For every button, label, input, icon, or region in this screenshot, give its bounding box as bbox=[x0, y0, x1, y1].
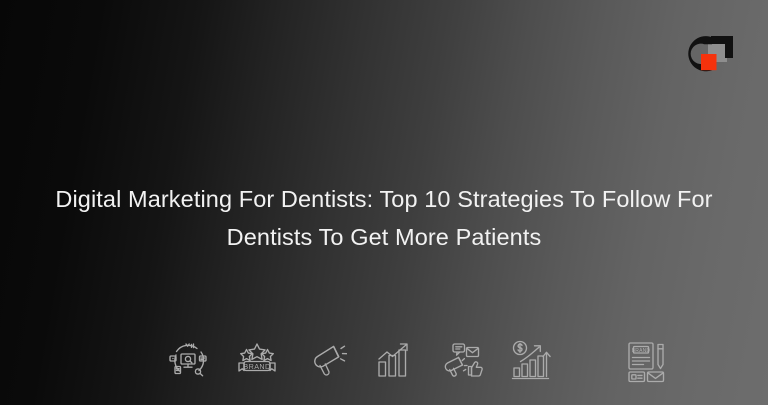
megaphone-icon bbox=[303, 336, 349, 384]
revenue-growth-svg bbox=[511, 339, 553, 381]
brand-badge-svg: BRAND bbox=[235, 341, 279, 379]
logo-svg bbox=[671, 25, 743, 81]
logo-red-square bbox=[701, 54, 717, 70]
brand-stationery-icon: BRAND bbox=[624, 338, 674, 386]
bar-chart-growth-svg bbox=[375, 340, 413, 380]
social-media-marketing-svg bbox=[441, 339, 485, 381]
brand-stationery-svg: BRAND bbox=[626, 340, 672, 384]
g-mark-logo[interactable] bbox=[671, 25, 743, 81]
banner-title-line-2: Dentists To Get More Patients bbox=[34, 218, 734, 256]
icon-strip: BRAND bbox=[165, 333, 555, 387]
brand-stationery-text: BRAND bbox=[632, 348, 651, 354]
digital-marketing-network-icon bbox=[165, 336, 211, 384]
digital-marketing-network-svg bbox=[167, 339, 209, 381]
social-media-marketing-icon bbox=[440, 336, 486, 384]
banner-root: Digital Marketing For Dentists: Top 10 S… bbox=[0, 0, 768, 405]
brand-badge-text: BRAND bbox=[243, 362, 270, 371]
banner-title-line-1: Digital Marketing For Dentists: Top 10 S… bbox=[34, 180, 734, 218]
brand-badge-icon: BRAND bbox=[234, 336, 280, 384]
banner-title: Digital Marketing For Dentists: Top 10 S… bbox=[0, 180, 768, 256]
revenue-growth-icon bbox=[509, 336, 555, 384]
bar-chart-growth-icon bbox=[371, 336, 417, 384]
megaphone-svg bbox=[305, 340, 347, 380]
